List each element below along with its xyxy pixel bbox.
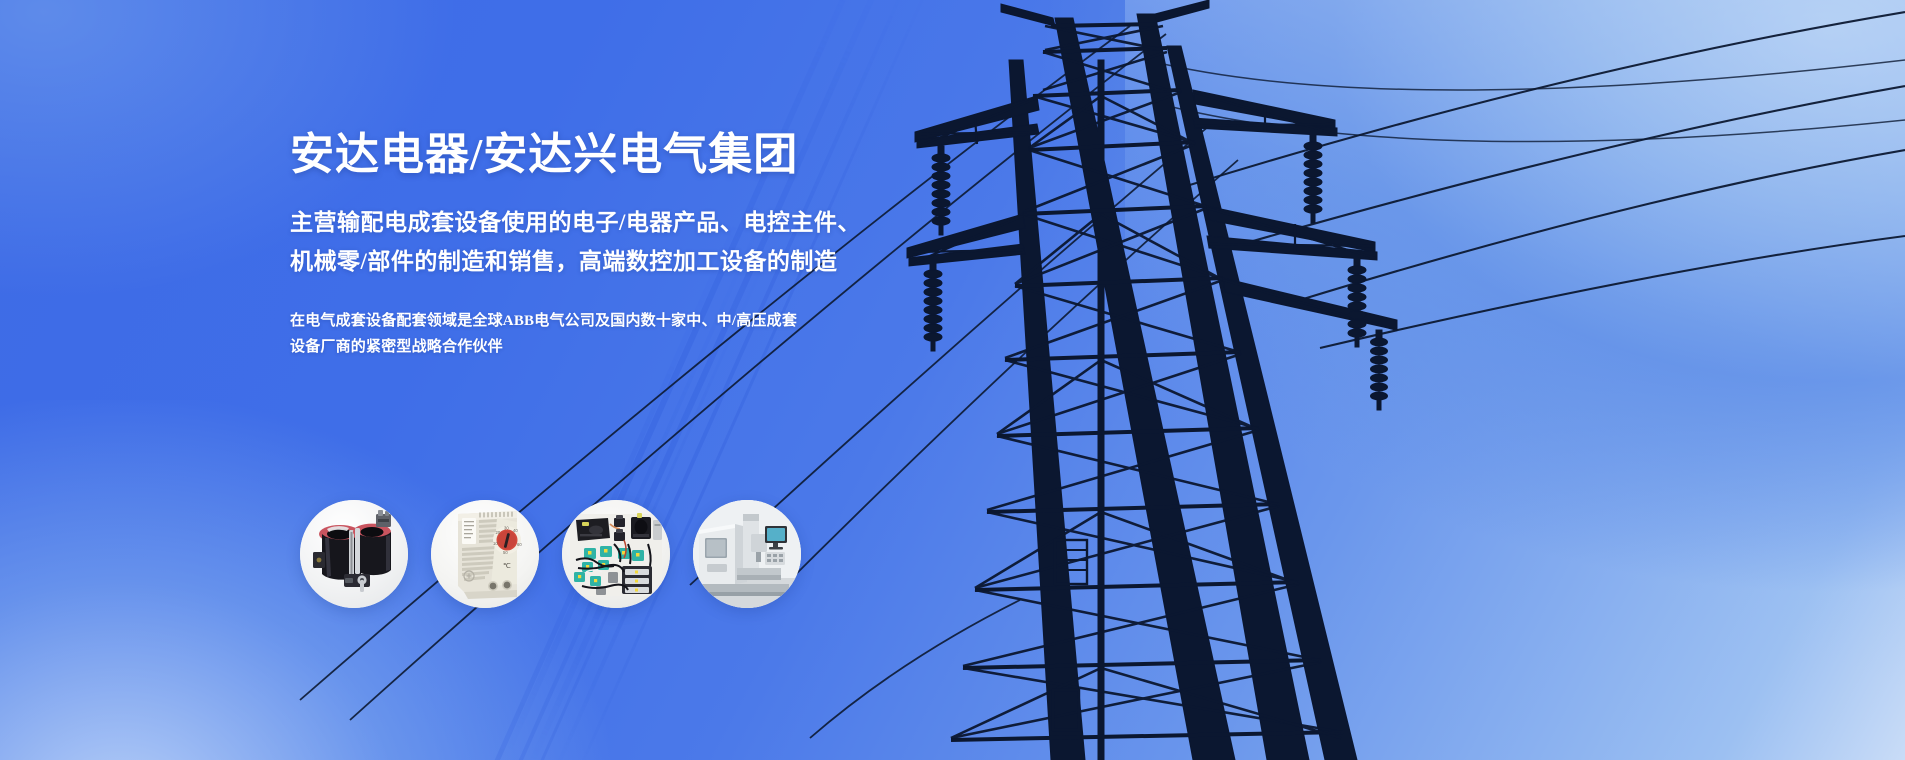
product-thumb-cnc-machining-center[interactable]	[693, 500, 801, 608]
svg-text:10: 10	[493, 541, 498, 546]
svg-text:50: 50	[503, 550, 508, 555]
product-thumb-electrical-component-assembly[interactable]	[562, 500, 670, 608]
product-thumbnail-list: 20 30 40 10 60 50 ℃	[300, 500, 801, 608]
svg-text:60: 60	[517, 542, 522, 547]
transmission-tower	[905, 0, 1905, 760]
svg-text:20: 20	[496, 530, 501, 535]
subtitle-line-1: 主营输配电成套设备使用的电子/电器产品、电控主件、	[290, 203, 910, 243]
subtitle-line-2: 机械零/部件的制造和销售，高端数控加工设备的制造	[290, 242, 910, 282]
banner-copy: 安达电器/安达兴电气集团 主营输配电成套设备使用的电子/电器产品、电控主件、 机…	[290, 130, 910, 360]
description-line-2: 设备厂商的紧密型战略合作伙伴	[290, 334, 910, 360]
svg-text:40: 40	[513, 528, 518, 533]
hero-banner: 安达电器/安达兴电气集团 主营输配电成套设备使用的电子/电器产品、电控主件、 机…	[0, 0, 1905, 760]
cabinet-thermostat-icon: 20 30 40 10 60 50 ℃	[431, 500, 539, 608]
electrical-component-assembly-icon	[562, 500, 670, 608]
thermostat-unit-label: ℃	[503, 563, 511, 570]
product-thumb-split-core-current-transformer[interactable]	[300, 500, 408, 608]
svg-text:30: 30	[504, 526, 509, 531]
product-thumb-cabinet-thermostat[interactable]: 20 30 40 10 60 50 ℃	[431, 500, 539, 608]
split-core-current-transformer-icon	[300, 500, 408, 608]
description-line-1: 在电气成套设备配套领域是全球ABB电气公司及国内数十家中、中/高压成套	[290, 308, 910, 334]
cnc-machining-center-icon	[693, 500, 801, 608]
page-title: 安达电器/安达兴电气集团	[290, 130, 910, 181]
banner-subtitle: 主营输配电成套设备使用的电子/电器产品、电控主件、 机械零/部件的制造和销售，高…	[290, 203, 910, 282]
banner-description: 在电气成套设备配套领域是全球ABB电气公司及国内数十家中、中/高压成套 设备厂商…	[290, 308, 910, 361]
